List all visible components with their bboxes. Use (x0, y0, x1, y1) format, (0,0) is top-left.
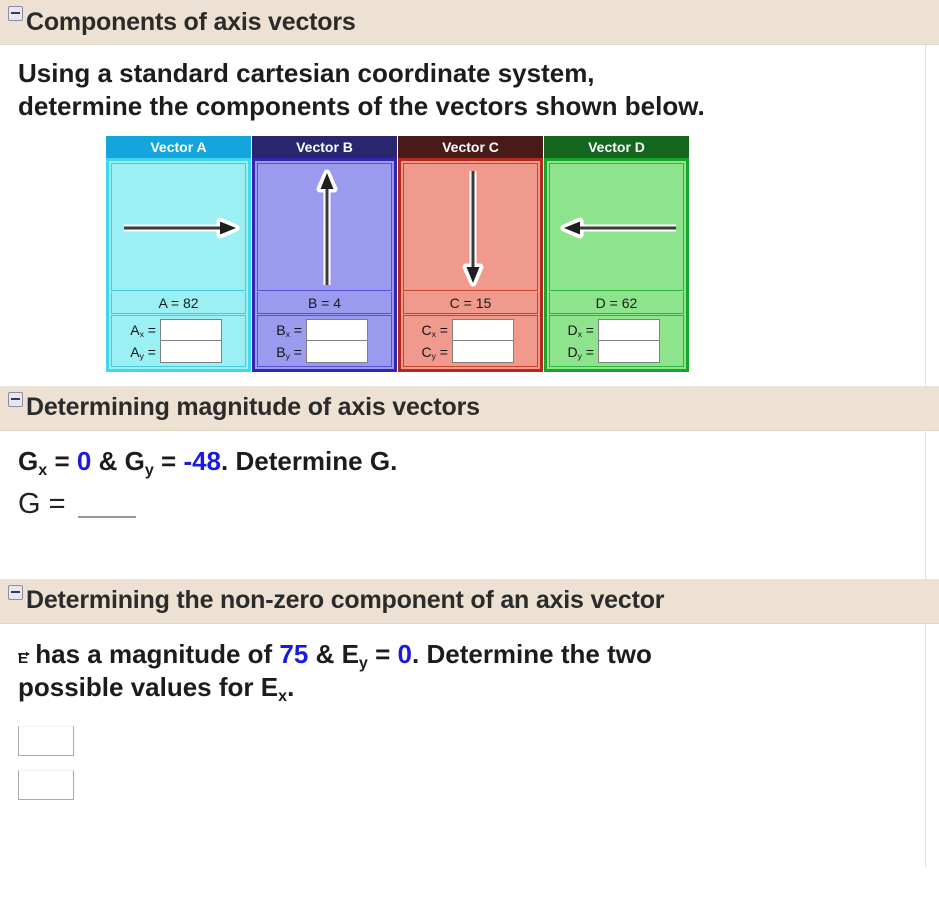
vector-e-symbol: E (18, 649, 28, 668)
collapse-minus-icon[interactable] (8, 392, 23, 407)
section-body-nonzero: E has a magnitude of 75 & Ey = 0. Determ… (0, 624, 926, 868)
vector-arrow-canvas (111, 163, 246, 291)
vector-card-title: Vector B (252, 136, 397, 158)
vector-card-title: Vector C (398, 136, 543, 158)
vector-magnitude-label: B = 4 (257, 292, 392, 314)
vector-arrow-canvas (549, 163, 684, 291)
component-y-input[interactable] (306, 341, 368, 363)
vector-card-title: Vector D (544, 136, 689, 158)
vector-magnitude-label: C = 15 (403, 292, 538, 314)
prompt-components: Using a standard cartesian coordinate sy… (0, 45, 925, 124)
answer-boxes-ex (0, 704, 925, 800)
ex-sub: x (278, 687, 287, 705)
vector-component-inputs: Bx =By = (257, 315, 392, 367)
vector-arrow-canvas (403, 163, 538, 291)
vector-card-frame: D = 62Dx =Dy = (544, 158, 689, 372)
vector-arrow-canvas (257, 163, 392, 291)
section-header-components[interactable]: Components of axis vectors (0, 0, 939, 45)
vector-magnitude-label: D = 62 (549, 292, 684, 314)
collapse-minus-icon[interactable] (8, 6, 23, 21)
component-x-row: Dx = (550, 319, 683, 341)
component-x-label: Ax = (120, 322, 156, 338)
component-x-input[interactable] (598, 319, 660, 341)
vector-card-a: Vector AA = 82Ax =Ay = (106, 136, 251, 372)
prompt-tail-2: . Determine the two (412, 639, 652, 669)
vector-card-frame: C = 15Cx =Cy = (398, 158, 543, 372)
collapse-minus-icon[interactable] (8, 585, 23, 600)
component-y-label: Dy = (558, 344, 594, 360)
component-y-row: By = (258, 341, 391, 363)
section-body-magnitude: Gx = 0 & Gy = -48. Determine G. G = (0, 431, 926, 579)
answer-box-1[interactable] (18, 726, 74, 756)
component-x-input[interactable] (306, 319, 368, 341)
component-y-label: Ay = (120, 344, 156, 360)
component-y-input[interactable] (598, 341, 660, 363)
prompt-line-2: determine the components of the vectors … (18, 90, 911, 123)
component-y-label: By = (266, 344, 302, 360)
prompt-tail: . Determine G. (221, 446, 397, 476)
component-x-label: Dx = (558, 322, 594, 338)
equals-2: = (161, 446, 183, 476)
answer-prefix-g: G = (18, 488, 66, 521)
section-body-components: Using a standard cartesian coordinate sy… (0, 45, 926, 386)
component-y-row: Cy = (404, 341, 537, 363)
vector-component-inputs: Cx =Cy = (403, 315, 538, 367)
vector-magnitude-label: A = 82 (111, 292, 246, 314)
component-y-input[interactable] (160, 341, 222, 363)
component-y-input[interactable] (452, 341, 514, 363)
gy-value: -48 (183, 446, 221, 476)
prompt-nonzero: E has a magnitude of 75 & Ey = 0. Determ… (0, 624, 925, 705)
section-title: Determining the non-zero component of an… (26, 586, 664, 615)
gx-label: Gx (18, 446, 47, 476)
gx-value: 0 (77, 446, 91, 476)
gy-label: Gy (125, 446, 154, 476)
section-header-nonzero[interactable]: Determining the non-zero component of an… (0, 579, 939, 624)
answer-input-g[interactable] (78, 516, 136, 518)
component-x-label: Cx = (412, 322, 448, 338)
component-y-label: Cy = (412, 344, 448, 360)
prompt-line-2-nonzero: possible values for Ex. (18, 671, 911, 704)
prompt-line-1: Using a standard cartesian coordinate sy… (18, 57, 911, 90)
equals-1: = (54, 446, 76, 476)
vector-card-d: Vector DD = 62Dx =Dy = (544, 136, 689, 372)
period: . (287, 672, 294, 702)
component-x-input[interactable] (452, 319, 514, 341)
component-y-row: Ay = (112, 341, 245, 363)
ey-value: 0 (398, 639, 412, 669)
equals-3: = (375, 639, 397, 669)
magnitude-text: has a magnitude of (35, 639, 272, 669)
ampersand-2: & (316, 639, 335, 669)
worksheet-page: Components of axis vectors Using a stand… (0, 0, 939, 909)
ey-label: Ey (342, 639, 368, 669)
section-title: Determining magnitude of axis vectors (26, 393, 480, 422)
vector-component-inputs: Ax =Ay = (111, 315, 246, 367)
vector-component-inputs: Dx =Dy = (549, 315, 684, 367)
component-x-input[interactable] (160, 319, 222, 341)
ampersand-1: & (99, 446, 118, 476)
vector-card-title: Vector A (106, 136, 251, 158)
vector-card-b: Vector BB = 4Bx =By = (252, 136, 397, 372)
magnitude-value: 75 (279, 639, 308, 669)
component-x-row: Bx = (258, 319, 391, 341)
component-x-row: Cx = (404, 319, 537, 341)
vector-card-c: Vector CC = 15Cx =Cy = (398, 136, 543, 372)
vector-card-frame: B = 4Bx =By = (252, 158, 397, 372)
prompt-magnitude: Gx = 0 & Gy = -48. Determine G. (0, 431, 925, 478)
answer-line-g: G = (0, 478, 925, 521)
component-x-row: Ax = (112, 319, 245, 341)
section-header-magnitude[interactable]: Determining magnitude of axis vectors (0, 386, 939, 431)
component-x-label: Bx = (266, 322, 302, 338)
vector-cards: Vector AA = 82Ax =Ay =Vector BB = 4Bx =B… (0, 124, 925, 386)
possible-values-text: possible values for E (18, 672, 278, 702)
answer-box-2[interactable] (18, 770, 74, 800)
vector-arrow-overline-icon (18, 643, 30, 650)
component-y-row: Dy = (550, 341, 683, 363)
section-title: Components of axis vectors (26, 8, 356, 37)
vector-card-frame: A = 82Ax =Ay = (106, 158, 251, 372)
